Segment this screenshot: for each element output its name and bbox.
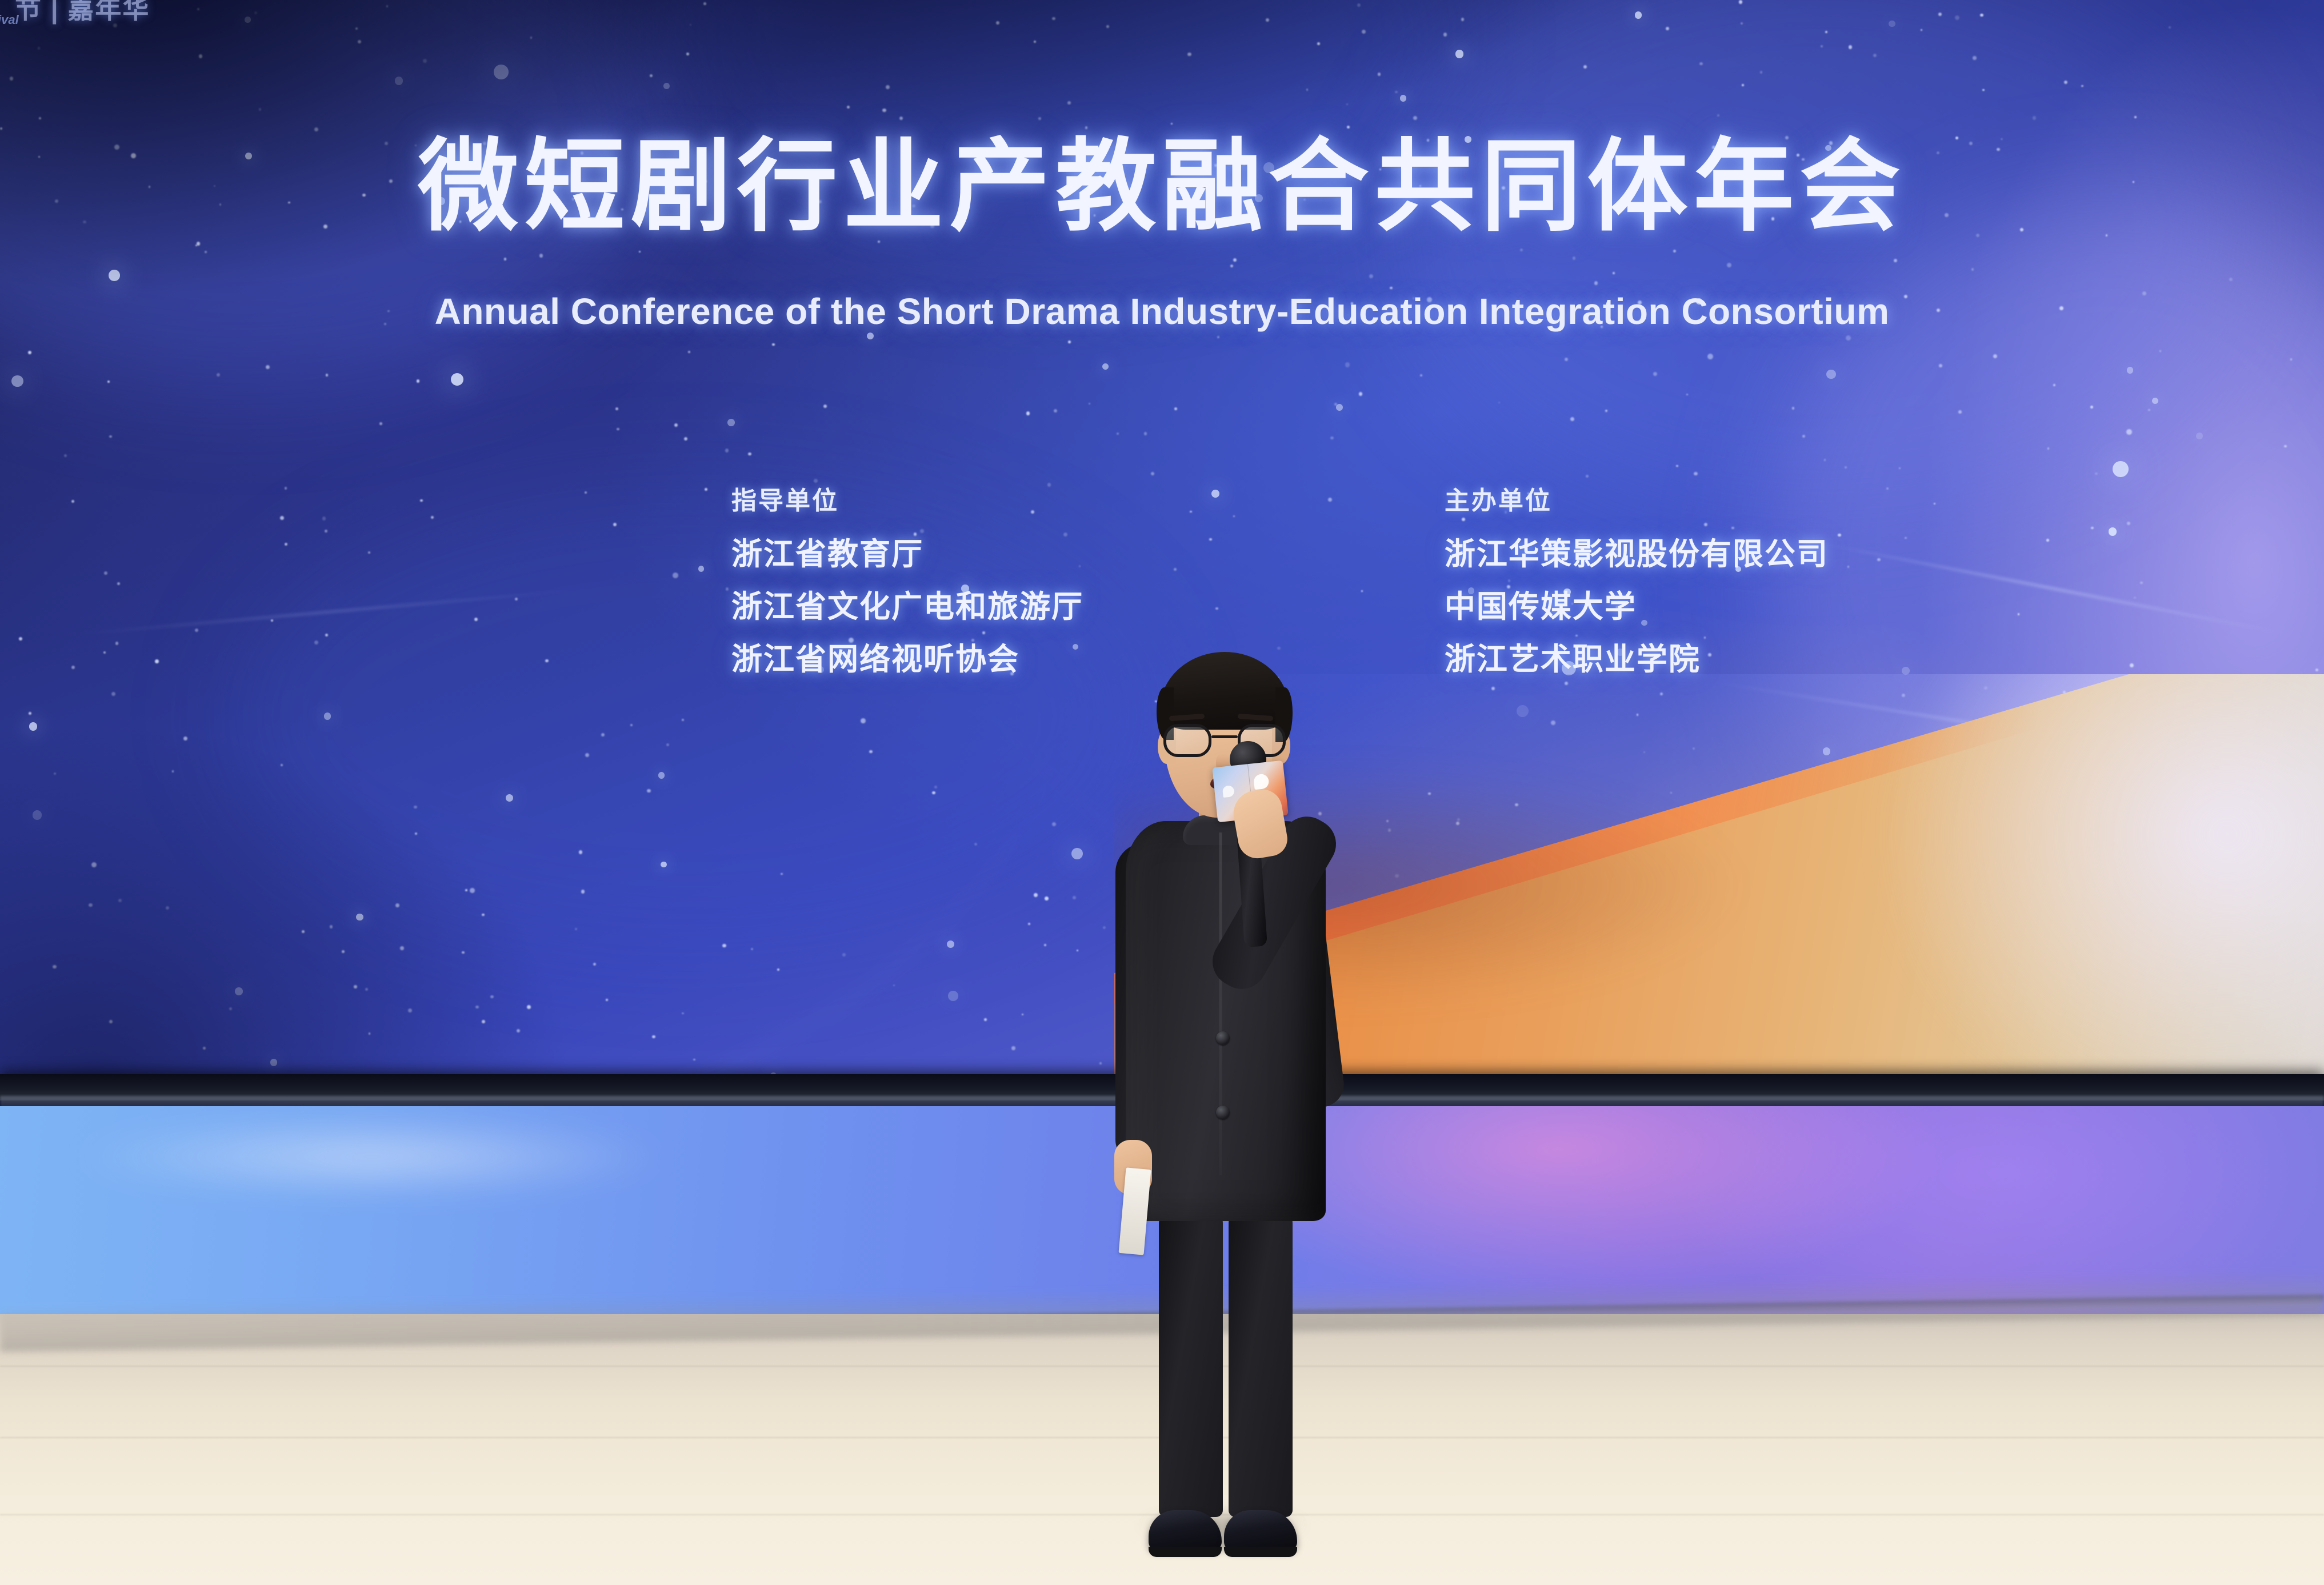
conference-title-english: Annual Conference of the Short Drama Ind… [0,291,2324,331]
glasses-bridge [1211,735,1238,738]
jacket-button [1216,1106,1230,1119]
host-unit-item: 浙江艺术职业学院 [1445,644,1817,675]
conference-title-chinese: 微短剧行业产教融合共同体年会 [0,133,2324,241]
host-unit-item: 中国传媒大学 [1445,591,1817,622]
guidance-units-column: 指导单位 浙江省教育厅 浙江省文化广电和旅游厅 浙江省网络视听协会 [731,489,1073,697]
guidance-unit-item: 浙江省网络视听协会 [731,644,1073,675]
mic-flag-logo-icon [1253,774,1270,790]
host-units-column: 主办单位 浙江华策影视股份有限公司 中国传媒大学 浙江艺术职业学院 [1445,489,1817,697]
jacket-button [1216,1031,1230,1045]
trouser-leg-left [1159,1208,1223,1517]
backdrop-sheen [70,1116,674,1198]
host-units-heading: 主办单位 [1445,489,1817,514]
trouser-leg-right [1229,1208,1293,1517]
speaker-figure [1103,637,1343,1585]
host-unit-item: 浙江华策影视股份有限公司 [1445,539,1817,570]
guidance-unit-item: 浙江省教育厅 [731,539,1073,570]
corner-banner-line1: 节 | 嘉年华 [15,0,150,26]
guidance-units-heading: 指导单位 [731,489,1073,514]
glasses-lens-left [1163,724,1211,757]
stage-scene: 节 | 嘉年华 ival 微短剧行业产教融合共同体年会 Annual Confe… [0,0,2324,1585]
guidance-unit-item: 浙江省文化广电和旅游厅 [731,591,1073,622]
mic-flag-logo-icon [1222,785,1235,798]
speaker-legs [1155,1208,1296,1528]
corner-banner-line2: ival [0,13,19,27]
